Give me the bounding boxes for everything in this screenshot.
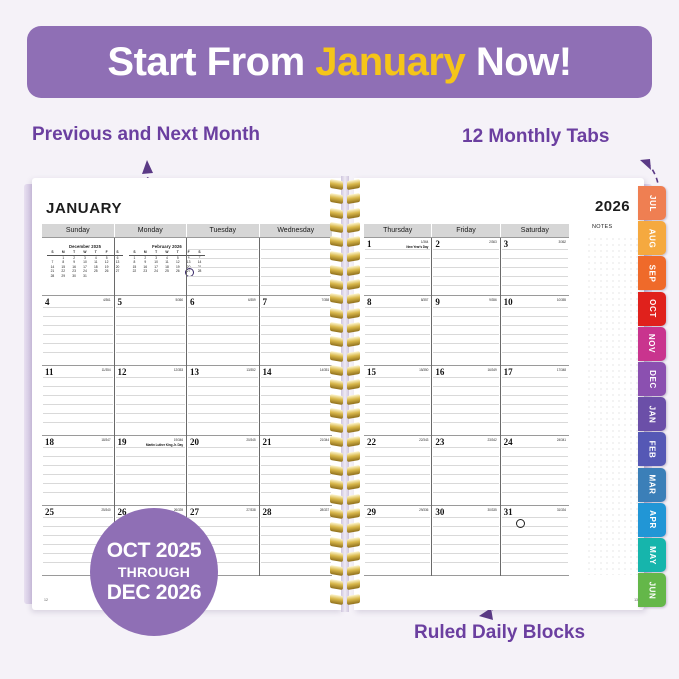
rule-line	[502, 474, 568, 475]
rule-line	[502, 395, 568, 396]
notes-dot-grid[interactable]	[586, 236, 640, 575]
rule-line	[502, 553, 568, 554]
week-row: 1515/3501616/3491717/348	[364, 366, 569, 436]
week-row: 11/364New Year's Day22/36333/362	[364, 237, 569, 296]
day-header-saturday: Saturday	[501, 224, 569, 237]
day-number: 8	[367, 297, 372, 307]
rule-line	[261, 447, 332, 448]
rule-line	[188, 258, 258, 259]
arrow-head-tabs	[640, 159, 651, 170]
rule-line	[502, 483, 568, 484]
rule-line	[188, 267, 258, 268]
month-tab-jun[interactable]: JUN	[638, 573, 666, 607]
day-number: 7	[263, 297, 268, 307]
day-of-year-fraction: 13/352	[246, 368, 255, 372]
ruled-lines	[432, 307, 499, 366]
day-header-wednesday: Wednesday	[260, 224, 333, 237]
day-number: 18	[45, 437, 54, 447]
month-tab-label: OCT	[648, 299, 657, 318]
spiral-coil	[330, 452, 360, 461]
rule-line	[261, 465, 332, 466]
rule-line	[116, 395, 186, 396]
ruled-lines	[501, 249, 569, 297]
rule-line	[188, 307, 258, 308]
spiral-coil	[330, 509, 360, 518]
month-tab-label: JUL	[647, 195, 656, 212]
day-of-year-fraction: 12/353	[174, 368, 183, 372]
day-cell[interactable]: 2424/341	[501, 436, 569, 506]
rule-line	[116, 352, 186, 353]
rule-line	[43, 307, 113, 308]
rule-line	[502, 276, 568, 277]
rule-line	[43, 526, 113, 527]
ruled-lines	[501, 447, 569, 506]
rule-line	[188, 492, 258, 493]
spiral-coil	[330, 337, 360, 346]
ruled-lines	[115, 447, 187, 506]
spiral-coil	[330, 352, 360, 361]
rule-line	[261, 377, 332, 378]
planner-page-right: 2026 ThursdayFridaySaturday 11/364New Ye…	[354, 178, 644, 610]
rule-line	[261, 474, 332, 475]
day-cell[interactable]: 55/360	[115, 296, 188, 366]
ruled-lines	[187, 447, 259, 506]
ruled-lines	[501, 377, 569, 436]
spiral-coil	[330, 223, 360, 232]
rule-line	[502, 456, 568, 457]
spiral-coil	[330, 194, 360, 203]
day-cell[interactable]: 33/362	[501, 238, 569, 297]
rule-line	[433, 447, 498, 448]
rule-line	[502, 325, 568, 326]
day-header-friday: Friday	[432, 224, 500, 237]
spiral-coil	[330, 380, 360, 389]
rule-line	[116, 456, 186, 457]
rule-line	[261, 526, 332, 527]
month-tab-label: SEP	[648, 264, 657, 282]
rule-line	[188, 276, 258, 277]
week-row: 2222/3432323/3422424/341	[364, 436, 569, 506]
rule-line	[365, 465, 430, 466]
rule-line	[502, 267, 568, 268]
rule-line	[433, 334, 498, 335]
rule-line	[365, 307, 430, 308]
day-number: 1	[367, 239, 372, 249]
day-cell[interactable]: 11/364New Year's Day	[364, 238, 432, 297]
mini-day: 31	[80, 274, 91, 279]
rule-line	[116, 307, 186, 308]
day-cell[interactable]: 3131/334	[501, 506, 569, 576]
day-of-year-fraction: 18/347	[101, 438, 110, 442]
rule-line	[261, 517, 332, 518]
day-of-year-fraction: 19/346	[174, 438, 183, 442]
day-cell[interactable]: 1212/353	[115, 366, 188, 436]
day-number: 15	[367, 367, 376, 377]
rule-line	[365, 404, 430, 405]
rule-line	[365, 267, 430, 268]
spiral-coil	[330, 437, 360, 446]
rule-line	[502, 316, 568, 317]
day-number: 16	[435, 367, 444, 377]
ruled-lines	[115, 377, 187, 436]
rule-line	[261, 404, 332, 405]
rule-line	[502, 544, 568, 545]
rule-line	[43, 343, 113, 344]
rule-line	[43, 465, 113, 466]
rule-line	[365, 413, 430, 414]
spiral-coil	[330, 395, 360, 404]
day-cell[interactable]: 66/359	[187, 296, 260, 366]
rule-line	[502, 562, 568, 563]
annotation-monthly-tabs: 12 Monthly Tabs	[462, 126, 609, 148]
week-row: 1111/3541212/3531313/3521414/351	[42, 366, 332, 436]
day-cell[interactable]: 44/361	[42, 296, 115, 366]
rule-line	[261, 492, 332, 493]
spiral-coil	[330, 480, 360, 489]
rule-line	[188, 404, 258, 405]
rule-line	[365, 535, 430, 536]
rule-line	[365, 316, 430, 317]
day-of-year-fraction: 11/354	[102, 368, 111, 372]
rule-line	[43, 386, 113, 387]
rule-line	[188, 483, 258, 484]
month-tab-apr[interactable]: APR	[638, 503, 666, 537]
rule-line	[261, 343, 332, 344]
rule-line	[365, 276, 430, 277]
spiral-coil	[330, 495, 360, 504]
day-of-year-fraction: 10/355	[557, 298, 566, 302]
day-cell[interactable]: 2323/342	[432, 436, 500, 506]
rule-line	[433, 413, 498, 414]
badge-line-3: DEC 2026	[107, 581, 202, 605]
ruled-lines	[364, 517, 431, 576]
rule-line	[43, 404, 113, 405]
spiral-coil	[330, 409, 360, 418]
rule-line	[116, 465, 186, 466]
ruled-lines	[260, 249, 333, 297]
rule-line	[502, 285, 568, 286]
rule-line	[433, 395, 498, 396]
day-number: 23	[435, 437, 444, 447]
rule-line	[502, 492, 568, 493]
day-cell[interactable]: 1111/354	[42, 366, 115, 436]
ruled-lines	[364, 447, 431, 506]
day-number: 11	[45, 367, 54, 377]
month-tab-feb[interactable]: FEB	[638, 432, 666, 466]
rule-line	[188, 377, 258, 378]
rule-line	[502, 307, 568, 308]
rule-line	[433, 285, 498, 286]
spiral-coil	[330, 237, 360, 246]
day-cell[interactable]: 2929/336	[364, 506, 432, 576]
rule-line	[502, 404, 568, 405]
rule-line	[502, 447, 568, 448]
rule-line	[365, 562, 430, 563]
rule-line	[188, 386, 258, 387]
rule-line	[43, 422, 113, 423]
rule-line	[365, 258, 430, 259]
rule-line	[433, 456, 498, 457]
rule-line	[433, 422, 498, 423]
rule-line	[116, 316, 186, 317]
rule-line	[433, 562, 498, 563]
ruled-lines	[260, 447, 333, 506]
rule-line	[43, 483, 113, 484]
monthly-tab-strip[interactable]: JULAUGSEPOCTNOVDECJANFEBMARAPRMAYJUN	[638, 186, 668, 610]
rule-line	[116, 474, 186, 475]
day-header-tuesday: Tuesday	[187, 224, 260, 237]
day-cell[interactable]: 1919/346Martin Luther King Jr. Day	[115, 436, 188, 506]
week-row: December 2025SMTWTFS12345678910111213141…	[42, 237, 332, 296]
rule-line	[365, 456, 430, 457]
month-tab-oct[interactable]: OCT	[638, 292, 666, 326]
day-of-year-fraction: 17/348	[557, 368, 566, 372]
day-cell[interactable]: 1616/349	[432, 366, 500, 436]
ruled-lines	[42, 377, 114, 436]
rule-line	[261, 386, 332, 387]
rule-line	[261, 422, 332, 423]
day-number: 3	[504, 239, 509, 249]
rule-line	[43, 316, 113, 317]
spiral-coil	[330, 266, 360, 275]
rule-line	[261, 316, 332, 317]
rule-line	[116, 377, 186, 378]
rule-line	[433, 404, 498, 405]
day-cell[interactable]: 2020/345	[187, 436, 260, 506]
day-number: 6	[190, 297, 195, 307]
notes-column[interactable]: NOTES	[582, 224, 644, 599]
rule-line	[433, 276, 498, 277]
spiral-coil	[330, 423, 360, 432]
ruled-lines	[187, 307, 259, 366]
rule-line	[502, 343, 568, 344]
month-tab-sep[interactable]: SEP	[638, 256, 666, 290]
rule-line	[43, 447, 113, 448]
day-of-year-fraction: 2/363	[489, 240, 496, 244]
rule-line	[365, 352, 430, 353]
rule-line	[261, 535, 332, 536]
day-number: 22	[367, 437, 376, 447]
day-cell[interactable]: 1818/347	[42, 436, 115, 506]
rule-line	[502, 386, 568, 387]
rule-line	[188, 413, 258, 414]
ruled-lines	[364, 377, 431, 436]
rule-line	[502, 517, 568, 518]
rule-line	[433, 377, 498, 378]
day-cell[interactable]: 1313/352	[187, 366, 260, 436]
rule-line	[365, 483, 430, 484]
day-number: 24	[504, 437, 513, 447]
rule-line	[433, 474, 498, 475]
rule-line	[261, 307, 332, 308]
rule-line	[116, 404, 186, 405]
rule-line	[365, 334, 430, 335]
mini-day	[90, 274, 101, 279]
day-number: 30	[435, 507, 444, 517]
rule-line	[433, 316, 498, 317]
month-tab-label: MAR	[648, 475, 657, 495]
notes-label: NOTES	[592, 224, 612, 230]
rule-line	[365, 249, 430, 250]
ruled-lines	[501, 517, 569, 576]
rule-line	[188, 465, 258, 466]
day-of-year-fraction: 30/335	[488, 508, 497, 512]
day-number: 25	[45, 507, 54, 517]
rule-line	[365, 395, 430, 396]
headline-after: Now!	[465, 40, 571, 84]
day-of-year-fraction: 5/360	[176, 298, 183, 302]
rule-line	[188, 395, 258, 396]
rule-line	[261, 325, 332, 326]
day-cell[interactable]: 2828/337	[260, 506, 333, 576]
ruled-lines	[187, 377, 259, 436]
badge-line-2: THROUGH	[118, 564, 190, 580]
day-of-year-fraction: 27/338	[246, 508, 255, 512]
date-range-badge: OCT 2025 THROUGH DEC 2026	[90, 508, 218, 636]
day-cell[interactable]: 88/357	[364, 296, 432, 366]
product-marketing-image: Start From January Now! Previous and Nex…	[0, 0, 679, 679]
rule-line	[433, 526, 498, 527]
day-of-year-fraction: 6/359	[248, 298, 255, 302]
month-tab-jan[interactable]: JAN	[638, 397, 666, 431]
annotation-previous-next-month: Previous and Next Month	[32, 124, 260, 146]
day-header-sunday: Sunday	[42, 224, 115, 237]
rule-line	[365, 553, 430, 554]
day-cell[interactable]: 99/356	[432, 296, 500, 366]
day-of-year-fraction: 31/334	[557, 508, 566, 512]
ruled-lines	[260, 307, 333, 366]
rule-line	[43, 352, 113, 353]
rule-line	[261, 249, 332, 250]
week-row: 88/35799/3561010/355	[364, 296, 569, 366]
rule-line	[188, 285, 258, 286]
spiral-coil	[330, 280, 360, 289]
day-of-year-fraction: 21/344	[320, 438, 329, 442]
rule-line	[43, 456, 113, 457]
month-tab-label: AUG	[647, 228, 656, 248]
rule-line	[116, 447, 186, 448]
ruled-lines	[260, 517, 333, 576]
day-cell[interactable]: 1010/355	[501, 296, 569, 366]
headline-highlight: January	[315, 40, 465, 84]
day-number: 14	[263, 367, 272, 377]
badge-line-1: OCT 2025	[107, 539, 201, 563]
ruled-lines	[501, 307, 569, 366]
month-tab-nov[interactable]: NOV	[638, 327, 666, 361]
rule-line	[433, 465, 498, 466]
day-number: 17	[504, 367, 513, 377]
day-of-year-fraction: 15/350	[419, 368, 428, 372]
day-of-year-fraction: 20/345	[246, 438, 255, 442]
rule-line	[433, 535, 498, 536]
rule-line	[502, 258, 568, 259]
rule-line	[261, 562, 332, 563]
headline-before: Start From	[107, 40, 315, 84]
month-tab-label: DEC	[647, 370, 656, 389]
rule-line	[433, 352, 498, 353]
rule-line	[365, 492, 430, 493]
rule-line	[188, 334, 258, 335]
day-cell[interactable]: 1717/348	[501, 366, 569, 436]
rule-line	[188, 249, 258, 250]
year-title: 2026	[595, 198, 630, 215]
rule-line	[188, 456, 258, 457]
day-cell[interactable]: 2121/344	[260, 436, 333, 506]
day-cell[interactable]: 1515/350	[364, 366, 432, 436]
day-number: 28	[263, 507, 272, 517]
rule-line	[365, 285, 430, 286]
ruled-lines	[115, 307, 187, 366]
day-cell[interactable]: 22/363	[432, 238, 500, 297]
month-tab-label: JUN	[648, 581, 657, 599]
page-number-left: 12	[44, 598, 48, 602]
day-of-year-fraction: 28/337	[320, 508, 329, 512]
rule-line	[116, 325, 186, 326]
ruled-lines	[42, 447, 114, 506]
rule-line	[502, 465, 568, 466]
rule-line	[502, 413, 568, 414]
day-of-year-fraction: 25/340	[101, 508, 110, 512]
rule-line	[433, 307, 498, 308]
ruled-lines	[432, 377, 499, 436]
spiral-coil	[330, 552, 360, 561]
day-cell[interactable]: 1414/351	[260, 366, 333, 436]
rule-line	[116, 334, 186, 335]
day-of-year-fraction: 14/351	[320, 368, 329, 372]
rule-line	[502, 352, 568, 353]
week-row: 2929/3363030/3353131/334	[364, 506, 569, 576]
day-cell[interactable]	[260, 238, 333, 297]
rule-line	[261, 395, 332, 396]
rule-line	[365, 544, 430, 545]
spiral-coil	[330, 309, 360, 318]
month-tab-aug[interactable]: AUG	[638, 221, 666, 255]
day-31-marker-circle	[516, 519, 525, 528]
day-cell[interactable]: 3030/335	[432, 506, 500, 576]
day-number: 12	[118, 367, 127, 377]
rule-line	[188, 474, 258, 475]
day-cell[interactable]	[187, 238, 260, 297]
arrow-head-prev-next	[142, 160, 153, 174]
rule-line	[433, 517, 498, 518]
rule-line	[188, 447, 258, 448]
month-tab-dec[interactable]: DEC	[638, 362, 666, 396]
spiral-coil	[330, 209, 360, 218]
rule-line	[433, 325, 498, 326]
headline-text: Start From January Now!	[107, 40, 571, 85]
rule-line	[188, 422, 258, 423]
mini-calendar-cell[interactable]	[115, 238, 188, 297]
headline-banner: Start From January Now!	[27, 26, 652, 98]
spiral-binding	[330, 176, 360, 612]
day-cell[interactable]: 77/358	[260, 296, 333, 366]
day-cell[interactable]: 2222/343	[364, 436, 432, 506]
rule-line	[188, 316, 258, 317]
day-of-year-fraction: 7/358	[322, 298, 329, 302]
ruled-lines	[432, 447, 499, 506]
rule-line	[43, 334, 113, 335]
month-tab-mar[interactable]: MAR	[638, 468, 666, 502]
rule-line	[502, 422, 568, 423]
rule-line	[116, 492, 186, 493]
rule-line	[365, 422, 430, 423]
day-of-year-fraction: 29/336	[419, 508, 428, 512]
month-tab-may[interactable]: MAY	[638, 538, 666, 572]
month-tab-jul[interactable]: JUL	[638, 186, 666, 220]
mini-calendar-title: December 2025	[47, 244, 123, 249]
month-tab-label: MAY	[648, 546, 657, 565]
mini-calendar-cell[interactable]: December 2025SMTWTFS12345678910111213141…	[42, 238, 115, 297]
